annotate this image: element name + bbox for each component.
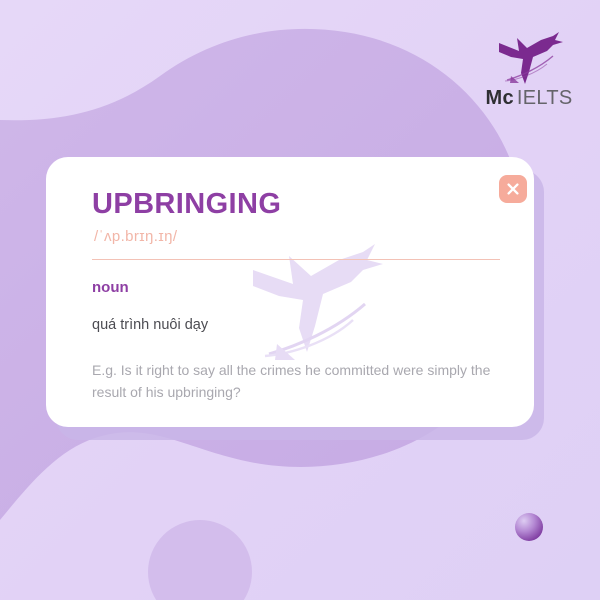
brand-name-light: IELTS <box>517 87 573 109</box>
word-meaning: quá trình nuôi dạy <box>92 315 500 335</box>
brand-name-bold: Mc <box>486 87 514 109</box>
close-icon <box>506 182 520 196</box>
hummingbird-origami-icon <box>483 26 575 88</box>
word-title: UPBRINGING <box>92 187 500 221</box>
vocabulary-card: UPBRINGING /ˈʌp.brɪŋ.ɪŋ/ noun quá trình … <box>46 157 534 427</box>
background-circle <box>148 520 252 600</box>
brand-logo-text: McIELTS <box>483 87 575 109</box>
close-button[interactable] <box>499 175 527 203</box>
example-sentence: E.g. Is it right to say all the crimes h… <box>92 359 502 403</box>
part-of-speech: noun <box>92 279 500 297</box>
gradient-sphere <box>515 513 543 541</box>
flashcard-screen: McIELTS UPBRINGING /ˈʌp.brɪŋ.ɪŋ/ noun qu… <box>0 0 600 600</box>
phonetic-transcription: /ˈʌp.brɪŋ.ɪŋ/ <box>94 228 500 246</box>
divider <box>92 259 500 260</box>
brand-logo: McIELTS <box>483 26 575 118</box>
